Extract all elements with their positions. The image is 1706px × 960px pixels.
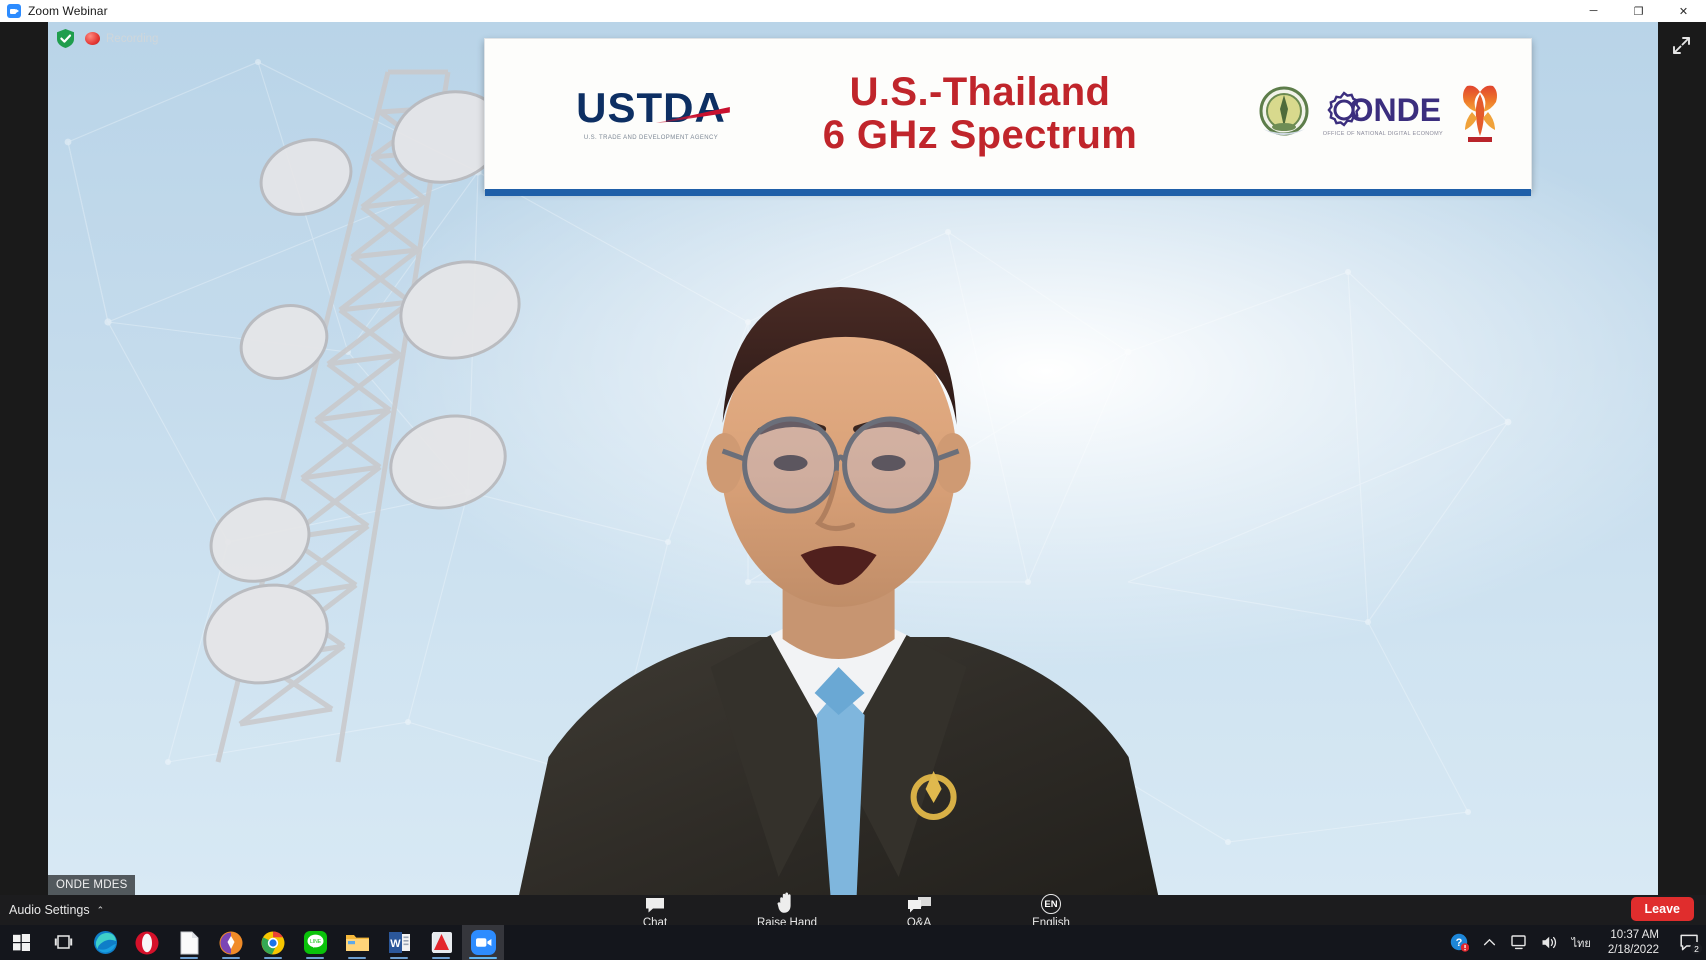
participant-name-tag: ONDE MDES bbox=[48, 875, 135, 895]
microsoft-word-icon: W bbox=[389, 931, 410, 954]
windows-taskbar: LINE W bbox=[0, 925, 1706, 960]
onde-logo: ONDE OFFICE OF NATIONAL DIGITAL ECONOMY bbox=[1323, 91, 1443, 137]
zoom-control-bar: Audio Settings ⌃ Chat Raise Hand bbox=[0, 895, 1706, 925]
language-en-icon: EN bbox=[1041, 892, 1061, 914]
taskbar-acrobat[interactable] bbox=[420, 925, 462, 960]
task-view-icon bbox=[54, 934, 73, 951]
network-display-button[interactable] bbox=[1507, 925, 1533, 960]
chevron-up-icon[interactable]: ⌃ bbox=[97, 905, 105, 916]
shield-check-icon[interactable] bbox=[56, 28, 75, 49]
enter-fullscreen-button[interactable] bbox=[1666, 30, 1696, 60]
adobe-acrobat-icon bbox=[431, 931, 452, 954]
clock-date: 2/18/2022 bbox=[1608, 943, 1659, 957]
qa-button[interactable]: Q&A bbox=[882, 892, 956, 929]
banner-bottom-strip bbox=[485, 189, 1531, 196]
line-messenger-icon: LINE bbox=[304, 931, 327, 954]
show-hidden-icons-button[interactable] bbox=[1477, 925, 1503, 960]
document-icon bbox=[180, 931, 199, 955]
ustda-logo: USTDA U.S. TRADE AND DEVELOPMENT AGENCY bbox=[521, 87, 781, 141]
volume-button[interactable] bbox=[1537, 925, 1563, 960]
taskbar-chrome[interactable] bbox=[252, 925, 294, 960]
language-indicator[interactable]: ไทย bbox=[1567, 934, 1596, 952]
telecom-tower-decoration bbox=[88, 42, 528, 782]
ustda-wordmark: USTDA bbox=[576, 87, 726, 129]
google-chrome-icon bbox=[261, 931, 285, 955]
nbtc-garuda-bird-icon bbox=[1451, 82, 1509, 146]
zoom-icon bbox=[7, 4, 21, 18]
close-button[interactable]: ✕ bbox=[1661, 0, 1706, 22]
thailand-ministry-seal-icon bbox=[1253, 83, 1315, 145]
audio-settings-label: Audio Settings bbox=[9, 903, 90, 917]
help-question-icon: ? bbox=[1450, 933, 1469, 952]
chat-bubble-icon bbox=[644, 892, 666, 914]
webinar-banner: USTDA U.S. TRADE AND DEVELOPMENT AGENCY … bbox=[484, 38, 1532, 190]
banner-partner-logos: ONDE OFFICE OF NATIONAL DIGITAL ECONOMY bbox=[1179, 82, 1509, 146]
volume-speaker-icon bbox=[1541, 935, 1558, 950]
speaker-video[interactable]: USTDA U.S. TRADE AND DEVELOPMENT AGENCY … bbox=[48, 22, 1658, 895]
onde-gear-icon bbox=[1325, 91, 1363, 129]
window-title-bar: Zoom Webinar ─ ❐ ✕ bbox=[0, 0, 1706, 22]
zoom-webinar-window: USTDA U.S. TRADE AND DEVELOPMENT AGENCY … bbox=[0, 22, 1706, 925]
leave-button[interactable]: Leave bbox=[1631, 897, 1694, 921]
clock[interactable]: 10:37 AM 2/18/2022 bbox=[1608, 928, 1659, 957]
svg-text:LINE: LINE bbox=[309, 939, 321, 945]
banner-title-line2: 6 GHz Spectrum bbox=[781, 114, 1179, 157]
banner-title-line1: U.S.-Thailand bbox=[781, 71, 1179, 114]
brave-browser-icon bbox=[219, 931, 243, 955]
language-button[interactable]: EN English bbox=[1014, 892, 1088, 929]
file-explorer-icon bbox=[345, 932, 370, 953]
onde-subtitle: OFFICE OF NATIONAL DIGITAL ECONOMY bbox=[1323, 131, 1443, 137]
notification-count-badge: 2 bbox=[1690, 942, 1703, 955]
recording-label: Recording bbox=[106, 33, 158, 45]
ustda-tagline: U.S. TRADE AND DEVELOPMENT AGENCY bbox=[584, 135, 718, 141]
taskbar-brave[interactable] bbox=[210, 925, 252, 960]
network-display-icon bbox=[1511, 935, 1529, 950]
system-tray: ? ไทย 10:37 AM bbox=[1447, 925, 1706, 960]
speaker-person bbox=[479, 237, 1199, 895]
chat-button[interactable]: Chat bbox=[618, 892, 692, 929]
microsoft-edge-icon bbox=[93, 930, 118, 955]
clock-time: 10:37 AM bbox=[1608, 928, 1659, 942]
window-title: Zoom Webinar bbox=[28, 4, 108, 18]
taskbar-line[interactable]: LINE bbox=[294, 925, 336, 960]
enter-fullscreen-icon bbox=[1672, 36, 1691, 55]
ustda-red-swoosh-icon bbox=[656, 107, 730, 123]
taskbar-zoom[interactable] bbox=[462, 925, 504, 960]
taskbar-opera[interactable] bbox=[126, 925, 168, 960]
show-hidden-icons-chevron bbox=[1483, 936, 1496, 949]
audio-settings-button[interactable]: Audio Settings ⌃ bbox=[9, 903, 104, 917]
opera-icon bbox=[135, 931, 159, 955]
language-badge: EN bbox=[1041, 894, 1061, 914]
taskbar-word[interactable]: W bbox=[378, 925, 420, 960]
zoom-icon bbox=[471, 930, 496, 955]
video-stage: USTDA U.S. TRADE AND DEVELOPMENT AGENCY … bbox=[0, 22, 1706, 895]
taskbar-document[interactable] bbox=[168, 925, 210, 960]
action-center-button[interactable]: 2 bbox=[1672, 925, 1706, 960]
taskbar-file-explorer[interactable] bbox=[336, 925, 378, 960]
record-dot-icon bbox=[85, 32, 100, 45]
maximize-button[interactable]: ❐ bbox=[1616, 0, 1661, 22]
banner-title: U.S.-Thailand 6 GHz Spectrum bbox=[781, 71, 1179, 157]
start-button[interactable] bbox=[0, 925, 42, 960]
raise-hand-button[interactable]: Raise Hand bbox=[750, 892, 824, 929]
task-view-button[interactable] bbox=[42, 925, 84, 960]
windows-logo-icon bbox=[13, 934, 30, 951]
window-controls: ─ ❐ ✕ bbox=[1571, 0, 1706, 22]
qa-bubbles-icon bbox=[907, 892, 932, 914]
help-question-button[interactable]: ? bbox=[1447, 925, 1473, 960]
minimize-button[interactable]: ─ bbox=[1571, 0, 1616, 22]
raise-hand-icon bbox=[777, 892, 797, 914]
recording-indicator[interactable]: Recording bbox=[56, 28, 158, 49]
taskbar-edge[interactable] bbox=[84, 925, 126, 960]
svg-text:W: W bbox=[390, 938, 401, 950]
control-buttons: Chat Raise Hand Q&A bbox=[0, 892, 1706, 929]
